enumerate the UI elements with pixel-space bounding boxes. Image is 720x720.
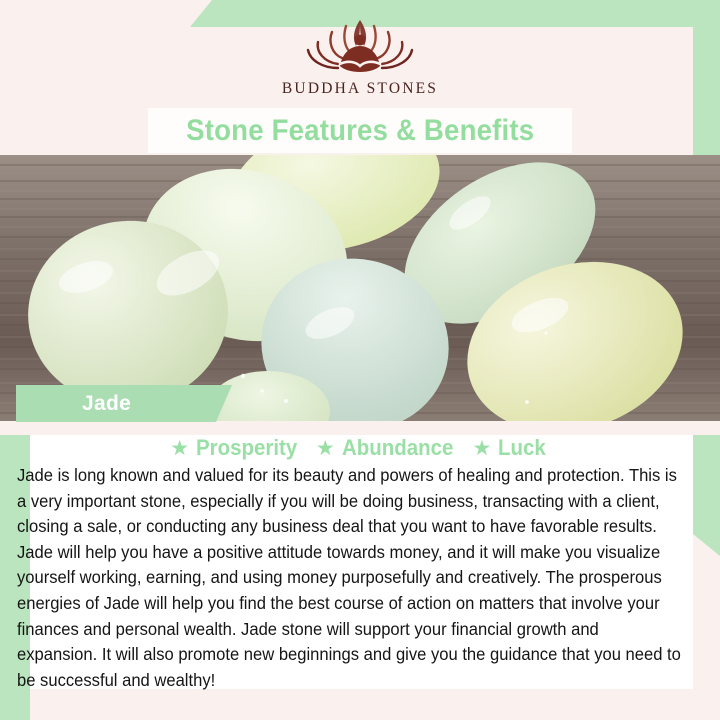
page-title: Stone Features & Benefits bbox=[186, 114, 534, 148]
benefit-item-abundance: ★ Abundance bbox=[316, 435, 462, 461]
star-icon: ★ bbox=[473, 438, 492, 459]
brand-name: BUDDHA STONES bbox=[282, 80, 438, 98]
jade-stones-photo bbox=[0, 155, 720, 421]
lotus-meditation-icon bbox=[294, 14, 426, 76]
stone-name-band: Jade bbox=[16, 385, 232, 422]
brand-logo: BUDDHA STONES bbox=[0, 14, 720, 98]
benefit-item-prosperity: ★ Prosperity bbox=[170, 435, 305, 461]
page-title-band: Stone Features & Benefits bbox=[148, 108, 572, 153]
benefit-item-luck: ★ Luck bbox=[473, 435, 550, 461]
benefit-label: Abundance bbox=[342, 435, 453, 461]
stone-description: Jade is long known and valued for its be… bbox=[17, 463, 683, 693]
star-icon: ★ bbox=[170, 438, 189, 459]
jade-stones-illustration bbox=[0, 155, 720, 421]
benefits-row: ★ Prosperity ★ Abundance ★ Luck bbox=[0, 433, 720, 463]
benefit-label: Prosperity bbox=[196, 435, 297, 461]
stone-name-label: Jade bbox=[82, 392, 131, 416]
star-icon: ★ bbox=[316, 438, 335, 459]
benefit-label: Luck bbox=[498, 435, 546, 461]
